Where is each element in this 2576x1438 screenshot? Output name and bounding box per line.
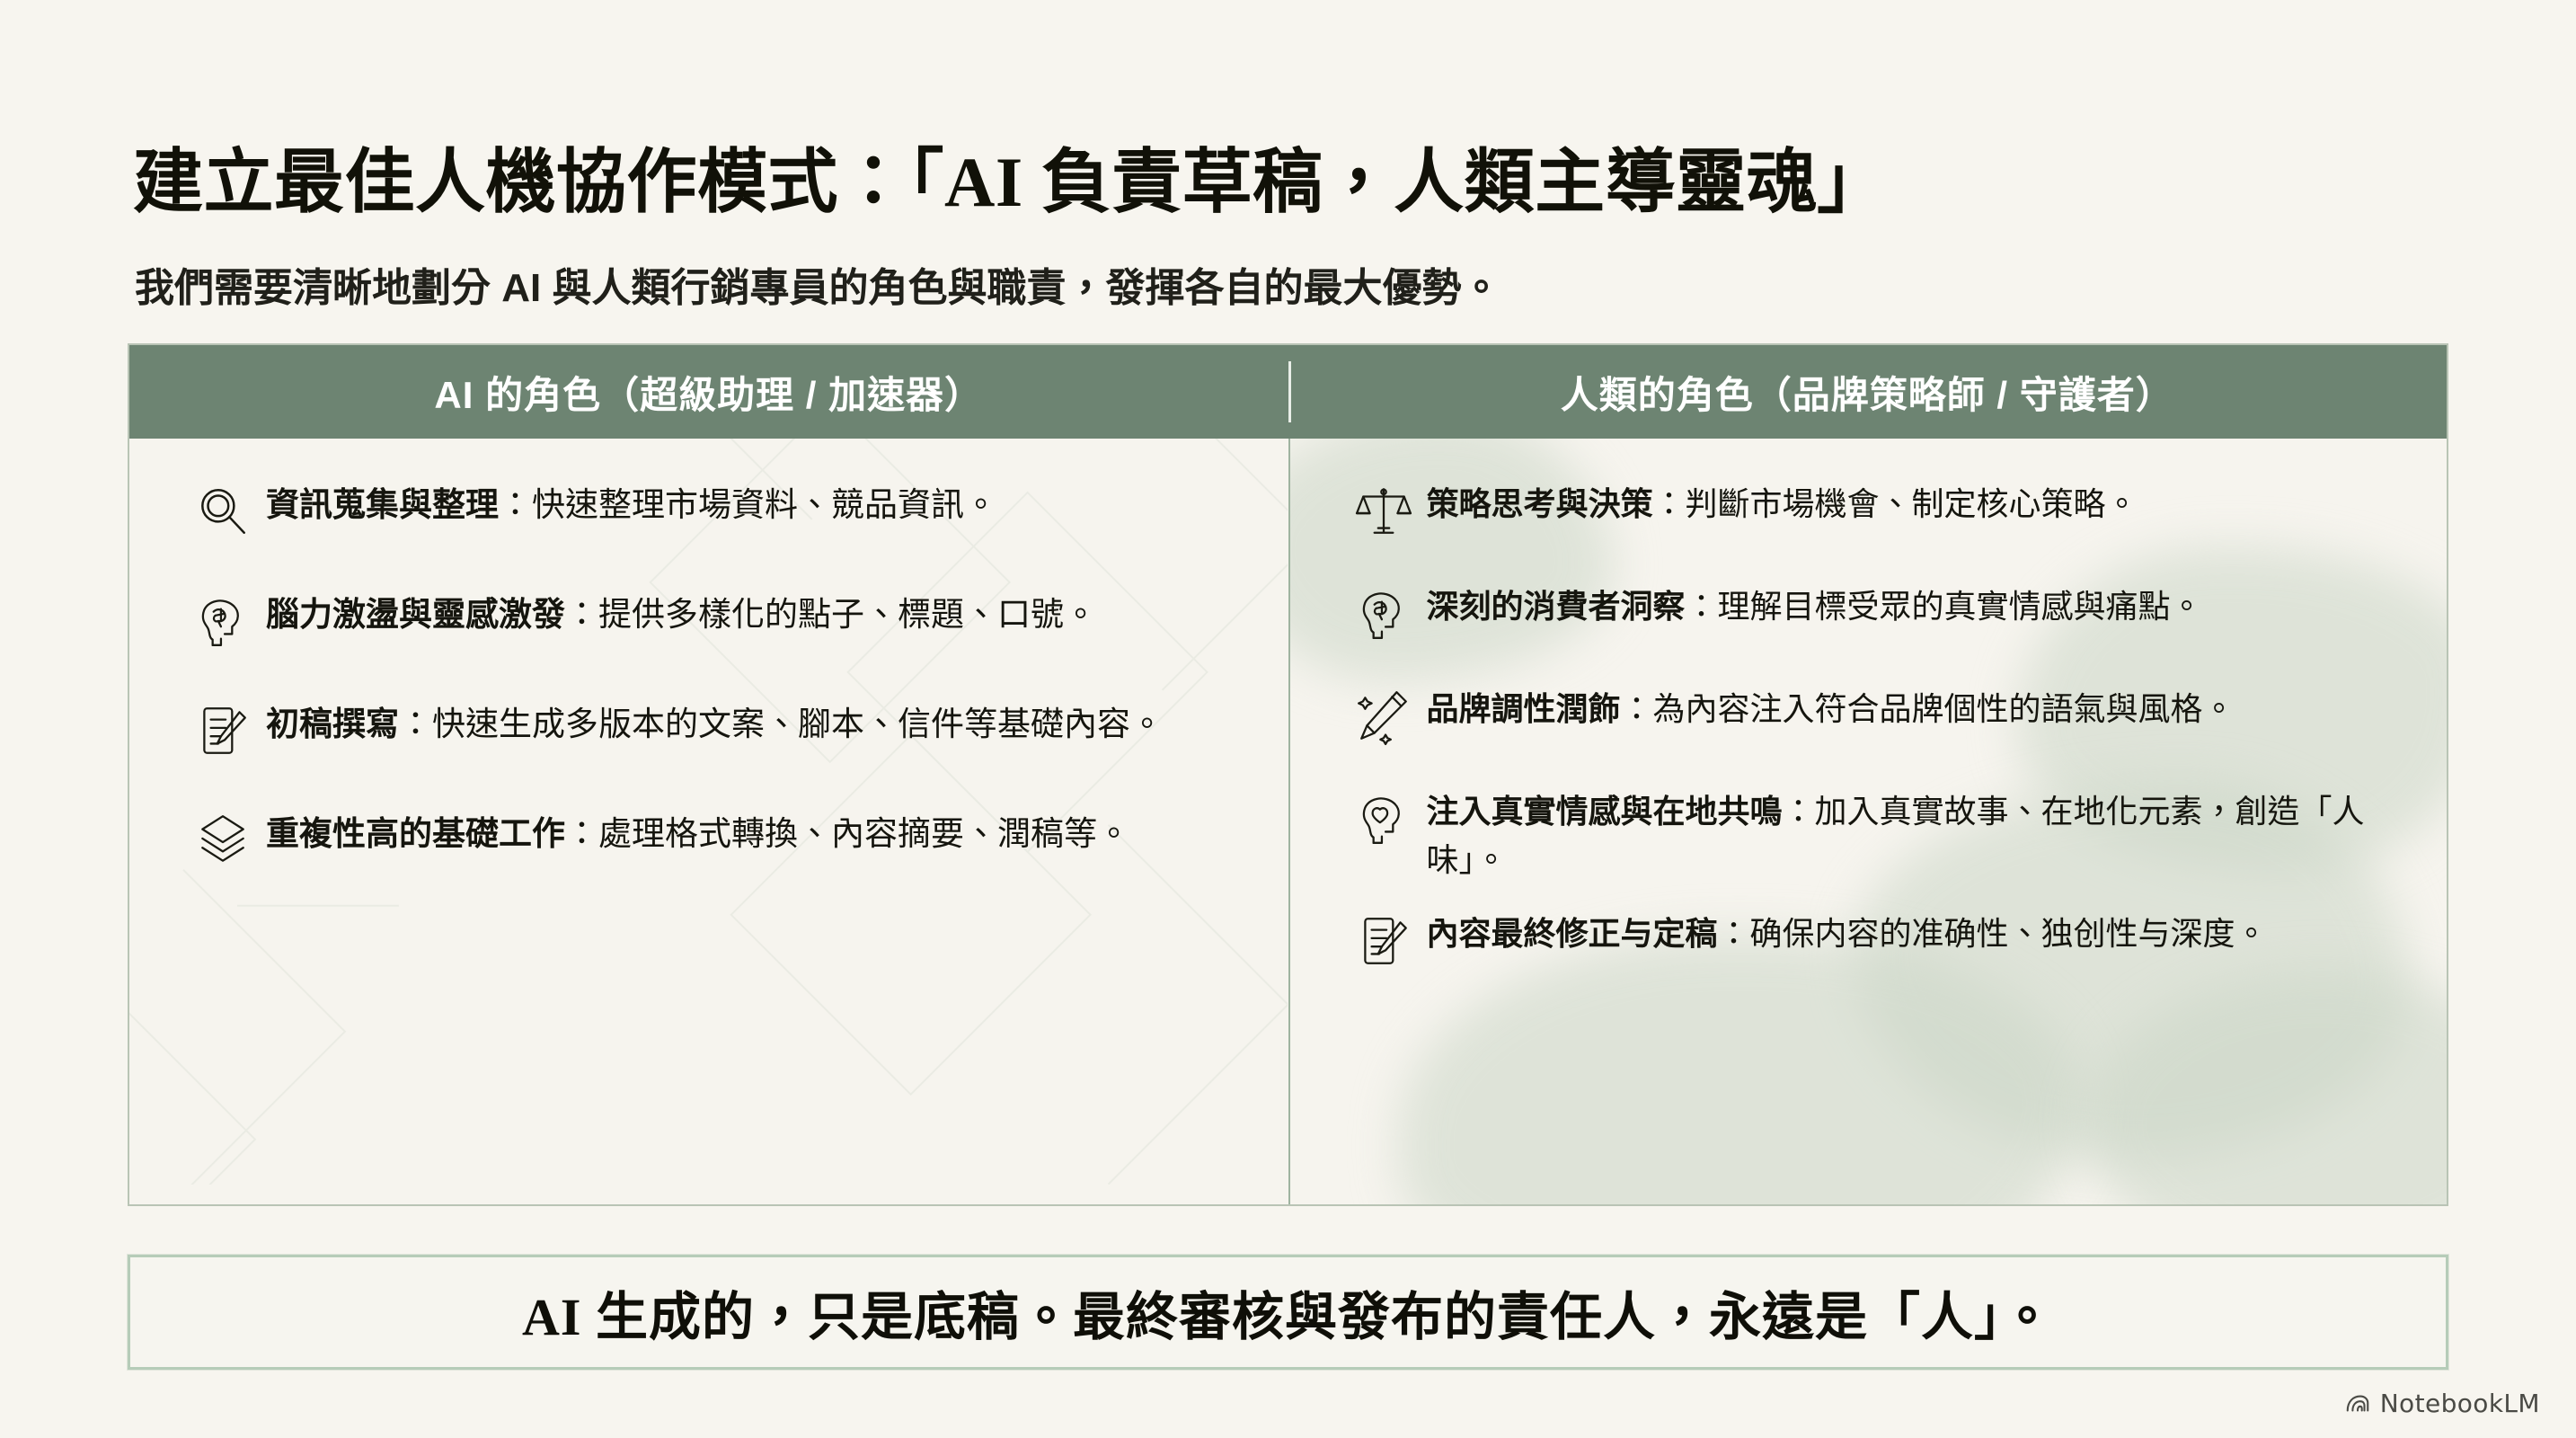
heart-head-icon [1341,786,1427,865]
notebooklm-icon [2344,1390,2371,1417]
list-item-detail: 理解目標受眾的真實情感與痛點。 [1718,588,2203,625]
bullet-list-ai: 資訊蒐集與整理：快速整理市場資料、競品資訊。 [180,478,1242,886]
list-item-term: 重複性高的基礎工作 [266,815,565,852]
brain-head-icon [1341,581,1427,660]
panel-header-row: AI 的角色（超級助理 / 加速器） 人類的角色（品牌策略師 / 守護者） [129,345,2447,439]
sparkle-pencil-icon [1341,683,1427,762]
list-item-term: 注入真實情感與在地共鳴 [1427,793,1783,830]
list-item-text: 深刻的消費者洞察：理解目標受眾的真實情感與痛點。 [1427,581,2203,631]
list-item-text: 腦力激盪與靈感激發：提供多樣化的點子、標題、口號。 [266,588,1097,640]
list-item: 重複性高的基礎工作：處理格式轉換、內容摘要、潤稿等。 [180,807,1242,886]
list-item: 內容最終修正与定稿：确保内容的准确性、独创性与深度。 [1341,908,2401,987]
column-human: 策略思考與決策：判斷市場機會、制定核心策略。 [1288,439,2448,1204]
list-item-detail: 判斷市場機會、制定核心策略。 [1686,485,2138,522]
list-item-detail: 提供多樣化的點子、標題、口號。 [598,596,1097,633]
list-item-separator: ： [565,815,598,852]
conclusion-banner: AI 生成的，只是底稿。最終審核與發布的責任人，永遠是「人」。 [128,1255,2448,1370]
list-item-separator: ： [1718,915,1750,952]
list-item-text: 策略思考與決策：判斷市場機會、制定核心策略。 [1427,478,2138,528]
list-item-separator: ： [1686,588,1718,625]
list-item-detail: 處理格式轉換、內容摘要、潤稿等。 [598,815,1130,852]
list-item-detail: 快速整理市場資料、競品資訊。 [532,486,997,523]
page-subtitle: 我們需要清晰地劃分 AI 與人類行銷專員的角色與職責，發揮各自的最大優勢。 [135,255,1500,313]
list-item: 注入真實情感與在地共鳴：加入真實故事、在地化元素，創造「人味」。 [1341,786,2401,884]
list-item-text: 重複性高的基礎工作：處理格式轉換、內容摘要、潤稿等。 [266,807,1130,859]
wash-blob [2087,971,2447,1204]
list-item-separator: ： [565,596,598,633]
list-item-separator: ： [1653,485,1686,522]
list-item: 資訊蒐集與整理：快速整理市場資料、競品資訊。 [180,478,1242,557]
document-pencil-icon [180,697,266,777]
stacked-layers-icon [180,807,266,886]
list-item-term: 品牌調性潤飾 [1427,690,1621,727]
bullet-list-human: 策略思考與決策：判斷市場機會、制定核心策略。 [1341,478,2401,987]
list-item: 品牌調性潤飾：為內容注入符合品牌個性的語氣與風格。 [1341,683,2401,762]
list-item-text: 品牌調性潤飾：為內容注入符合品牌個性的語氣與風格。 [1427,683,2235,733]
column-ai: 資訊蒐集與整理：快速整理市場資料、競品資訊。 [129,439,1288,1204]
document-pencil-icon [1341,908,1427,987]
column-header-human: 人類的角色（品牌策略師 / 守護者） [1288,345,2448,439]
column-header-ai: AI 的角色（超級助理 / 加速器） [129,345,1288,439]
notebooklm-watermark: NotebookLM [2344,1389,2540,1418]
column-header-ai-label: AI 的角色（超級助理 / 加速器） [434,365,983,420]
brain-head-icon [180,588,266,667]
list-item-term: 初稿撰寫 [266,706,399,742]
magnifier-icon [180,478,266,557]
list-item-term: 策略思考與決策 [1427,485,1653,522]
list-item: 策略思考與決策：判斷市場機會、制定核心策略。 [1341,478,2401,557]
list-item-term: 資訊蒐集與整理 [266,486,499,523]
list-item: 深刻的消費者洞察：理解目標受眾的真實情感與痛點。 [1341,581,2401,660]
list-item-separator: ： [399,706,432,742]
conclusion-banner-text: AI 生成的，只是底稿。最終審核與發布的責任人，永遠是「人」。 [522,1274,2054,1350]
list-item-detail: 為內容注入符合品牌個性的語氣與風格。 [1653,690,2235,727]
list-item-term: 深刻的消費者洞察 [1427,588,1686,625]
panel-body: 資訊蒐集與整理：快速整理市場資料、競品資訊。 [129,439,2447,1204]
list-item-text: 初稿撰寫：快速生成多版本的文案、腳本、信件等基礎內容。 [266,697,1164,750]
notebooklm-label: NotebookLM [2380,1389,2540,1418]
comparison-panel: AI 的角色（超級助理 / 加速器） 人類的角色（品牌策略師 / 守護者） [128,343,2448,1206]
list-item-separator: ： [1621,690,1653,727]
page-title: 建立最佳人機協作模式：「AI 負責草稿，人類主導靈魂」 [133,126,1888,226]
list-item-text: 資訊蒐集與整理：快速整理市場資料、競品資訊。 [266,478,997,530]
scales-balance-icon [1341,478,1427,557]
list-item-text: 內容最終修正与定稿：确保内容的准确性、独创性与深度。 [1427,908,2268,958]
list-item-term: 腦力激盪與靈感激發 [266,596,565,633]
list-item: 初稿撰寫：快速生成多版本的文案、腳本、信件等基礎內容。 [180,697,1242,777]
list-item-detail: 快速生成多版本的文案、腳本、信件等基礎內容。 [432,706,1164,742]
list-item: 腦力激盪與靈感激發：提供多樣化的點子、標題、口號。 [180,588,1242,667]
list-item-separator: ： [1783,793,1815,830]
list-item-text: 注入真實情感與在地共鳴：加入真實故事、在地化元素，創造「人味」。 [1427,786,2401,884]
list-item-detail: 确保内容的准确性、独创性与深度。 [1750,915,2268,952]
list-item-term: 內容最終修正与定稿 [1427,915,1718,952]
column-header-human-label: 人類的角色（品牌策略師 / 守護者） [1561,365,2174,420]
slide-canvas: 建立最佳人機協作模式：「AI 負責草稿，人類主導靈魂」 我們需要清晰地劃分 AI… [0,0,2576,1438]
list-item-separator: ： [499,486,532,523]
